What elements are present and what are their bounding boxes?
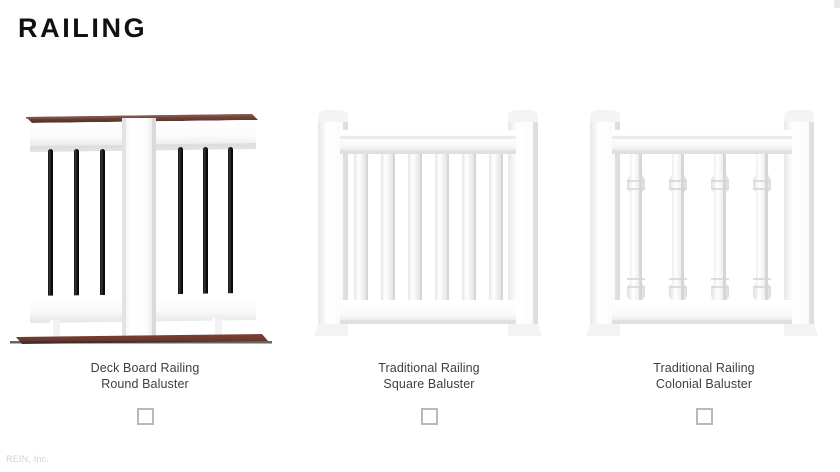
caption-line-2: Colonial Baluster <box>653 376 755 392</box>
railing-traditional-square-baluster-image <box>290 88 568 348</box>
railing-caption-3: Traditional Railing Colonial Baluster <box>653 360 755 392</box>
caption-line-2: Square Baluster <box>378 376 480 392</box>
railing-option-deck-board-round[interactable]: Deck Board Railing Round Baluster <box>0 88 290 425</box>
option-checkbox-3[interactable] <box>696 408 713 425</box>
page-edge-tint <box>834 0 840 8</box>
railing-caption-2: Traditional Railing Square Baluster <box>378 360 480 392</box>
watermark-text: REIN, Inc. <box>6 454 49 464</box>
railing-deck-board-round-baluster-image <box>0 88 290 348</box>
caption-line-1: Traditional Railing <box>378 361 480 375</box>
page-title: RAILING <box>18 14 147 44</box>
option-checkbox-2[interactable] <box>421 408 438 425</box>
railing-image-wrap-2 <box>290 88 568 348</box>
caption-line-1: Deck Board Railing <box>91 361 200 375</box>
railing-image-wrap-1 <box>0 88 290 348</box>
caption-line-1: Traditional Railing <box>653 361 755 375</box>
railing-traditional-colonial-baluster-image <box>568 88 840 348</box>
railing-options-page: RAILING <box>0 0 840 472</box>
option-checkbox-1[interactable] <box>137 408 154 425</box>
railing-option-traditional-square[interactable]: Traditional Railing Square Baluster <box>290 88 568 425</box>
railing-options-row: Deck Board Railing Round Baluster <box>0 88 840 438</box>
caption-line-2: Round Baluster <box>91 376 200 392</box>
railing-caption-1: Deck Board Railing Round Baluster <box>91 360 200 392</box>
railing-option-traditional-colonial[interactable]: Traditional Railing Colonial Baluster <box>568 88 840 425</box>
railing-image-wrap-3 <box>568 88 840 348</box>
